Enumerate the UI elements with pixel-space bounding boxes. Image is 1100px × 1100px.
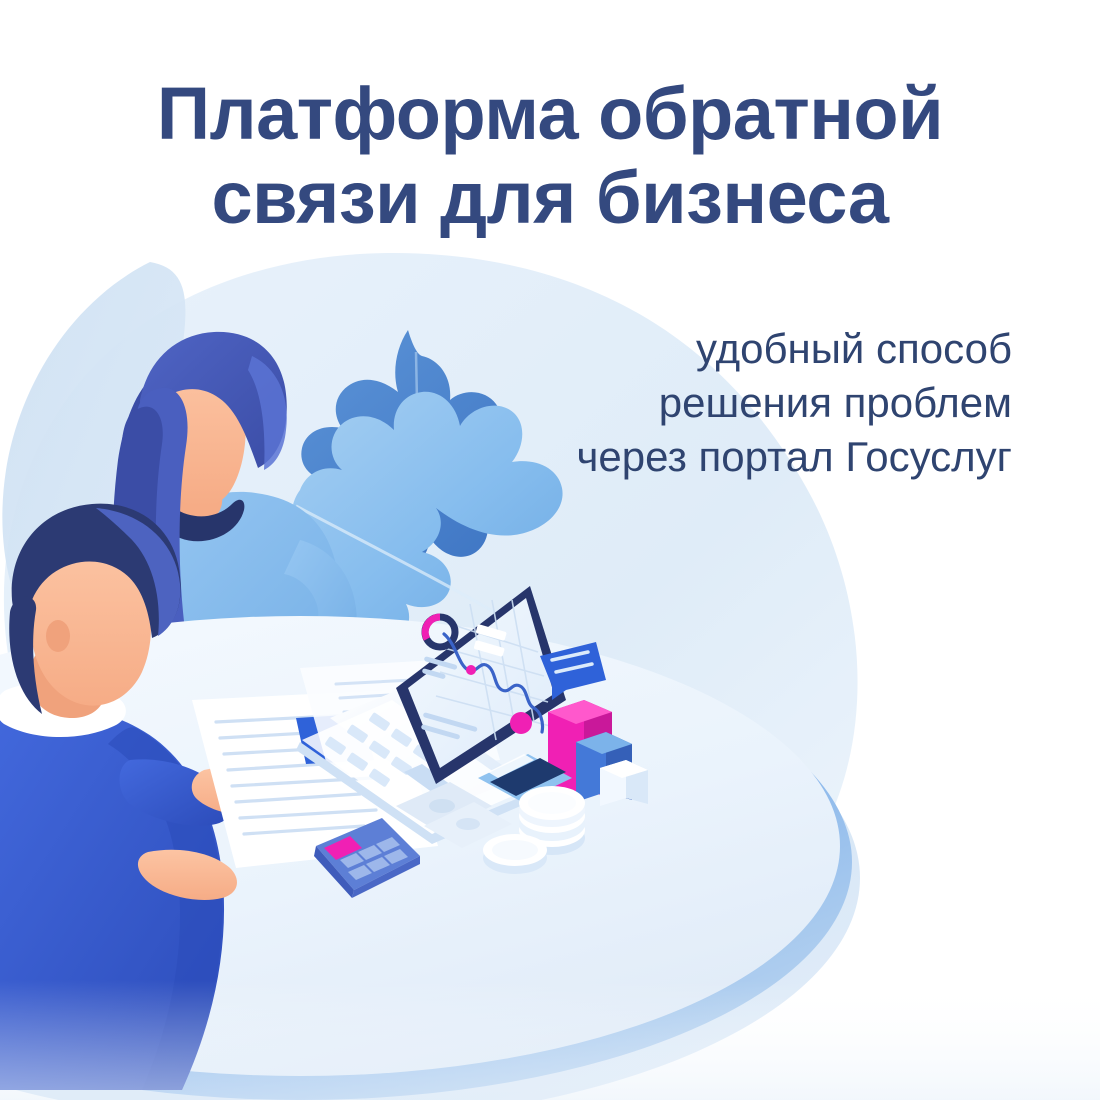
business-meeting-desk-illustration	[0, 0, 1100, 1100]
single-coin	[483, 834, 547, 874]
poster-root: Платформа обратной связи для бизнеса удо…	[0, 0, 1100, 1100]
